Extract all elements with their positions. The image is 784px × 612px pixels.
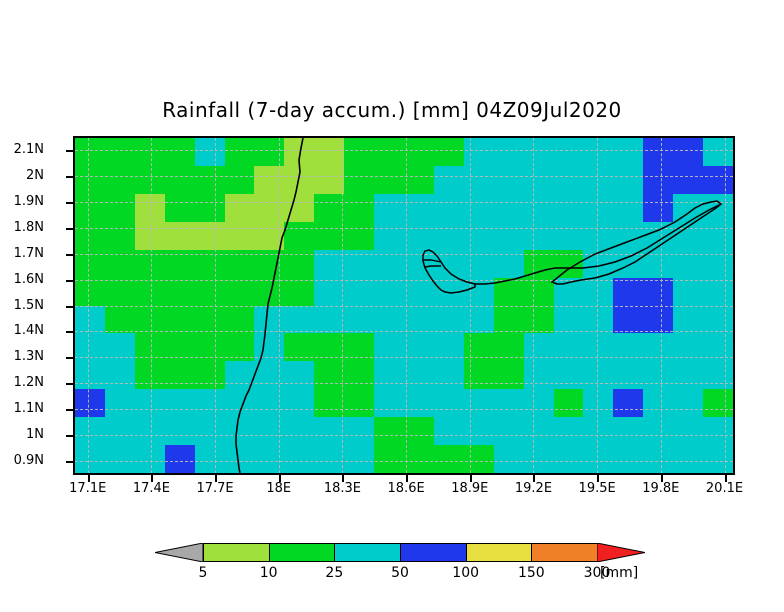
x-axis-tick-mark [342,475,344,482]
heatmap-cell [673,194,704,223]
heatmap-cell [494,417,525,446]
heatmap-cell [554,389,585,418]
y-axis-tick-label: 2.1N [0,142,44,157]
y-axis-tick-mark [66,280,73,282]
heatmap-cell [105,417,136,446]
heatmap-cell [105,389,136,418]
heatmap-cell [554,166,585,195]
heatmap-cell [583,194,614,223]
heatmap-cell [494,445,525,474]
heatmap-cell [195,278,226,307]
heatmap-cell [404,445,435,474]
rainfall-map-plot [73,136,735,475]
heatmap-cell [135,445,166,474]
heatmap-cell [344,222,375,251]
heatmap-cell [314,417,345,446]
heatmap-cell [703,194,734,223]
heatmap-cell [225,278,256,307]
y-axis-tick-label: 1.8N [0,220,44,235]
heatmap-cell [344,278,375,307]
x-axis-tick-label: 17.4E [116,481,186,496]
heatmap-cell [195,417,226,446]
heatmap-cell [583,389,614,418]
heatmap-cell [494,138,525,167]
x-axis-tick-label: 18E [244,481,314,496]
heatmap-cell [643,166,674,195]
heatmap-cell [195,166,226,195]
heatmap-cell [434,445,465,474]
y-axis-tick-mark [66,461,73,463]
x-axis-tick-mark [470,475,472,482]
heatmap-cell [284,361,315,390]
heatmap-cell [105,138,136,167]
y-axis-tick-label: 1.7N [0,246,44,261]
heatmap-cell [135,278,166,307]
gridline-horizontal [75,357,733,358]
y-axis-tick-mark [66,254,73,256]
colorbar-tick-label: 50 [370,565,430,581]
heatmap-cell [284,417,315,446]
heatmap-cell [254,361,285,390]
heatmap-cell [404,389,435,418]
x-axis-tick-mark [215,475,217,482]
heatmap-cell [75,417,106,446]
colorbar-tick-label: 5 [173,565,233,581]
y-axis-tick-mark [66,357,73,359]
heatmap-cell [673,417,704,446]
heatmap-cell [494,222,525,251]
heatmap-cell [374,138,405,167]
heatmap-cell [225,389,256,418]
heatmap-cell [434,194,465,223]
heatmap-cell [524,306,555,335]
heatmap-cell [75,166,106,195]
heatmap-cell [703,389,734,418]
heatmap-cell [165,166,196,195]
heatmap-cell [314,445,345,474]
heatmap-cell [434,306,465,335]
heatmap-cell [314,306,345,335]
heatmap-cell [254,166,285,195]
heatmap-cell [524,361,555,390]
heatmap-cell [344,138,375,167]
colorbar-tick-label: 100 [436,565,496,581]
heatmap-cell [554,445,585,474]
heatmap-cell [75,138,106,167]
heatmap-cell [135,389,166,418]
heatmap-cell [613,166,644,195]
heatmap-cell [554,361,585,390]
heatmap-cell [583,361,614,390]
heatmap-cell [703,445,734,474]
y-axis-tick-label: 1.3N [0,349,44,364]
heatmap-cell [613,194,644,223]
y-axis-tick-mark [66,150,73,152]
heatmap-cell [195,389,226,418]
heatmap-cell [404,306,435,335]
colorbar-swatch[interactable] [400,543,467,562]
y-axis-tick-label: 1.9N [0,194,44,209]
heatmap-cell [374,445,405,474]
heatmap-cell [135,138,166,167]
gridline-horizontal [75,383,733,384]
heatmap-cell [583,222,614,251]
heatmap-cell [583,278,614,307]
heatmap-cell [225,166,256,195]
heatmap-cell [583,306,614,335]
y-axis-tick-mark [66,383,73,385]
colorbar-units-label: [mm] [600,565,638,581]
heatmap-cell [105,445,136,474]
gridline-horizontal [75,254,733,255]
heatmap-cell [703,306,734,335]
gridline-horizontal [75,331,733,332]
colorbar-tick-label: 10 [239,565,299,581]
heatmap-cell [404,138,435,167]
heatmap-cell [135,194,166,223]
heatmap-cell [75,306,106,335]
heatmap-cell [613,389,644,418]
heatmap-cell [344,306,375,335]
heatmap-cell [524,166,555,195]
heatmap-cell [75,389,106,418]
heatmap-cell [613,306,644,335]
heatmap-cell [703,222,734,251]
heatmap-cell [494,194,525,223]
heatmap-cell [75,194,106,223]
gridline-horizontal [75,176,733,177]
heatmap-cell [554,138,585,167]
heatmap-cell [165,306,196,335]
colorbar-legend[interactable]: 5102550100150300 [155,543,645,565]
heatmap-cell [703,138,734,167]
heatmap-cell [673,361,704,390]
heatmap-cell [165,194,196,223]
colorbar-tick-label: 25 [304,565,364,581]
y-axis-tick-mark [66,435,73,437]
y-axis-tick-mark [66,306,73,308]
heatmap-cell [643,445,674,474]
heatmap-cell [673,166,704,195]
heatmap-cell [643,389,674,418]
heatmap-cell [314,166,345,195]
gridline-horizontal [75,150,733,151]
heatmap-cell [135,306,166,335]
heatmap-cell [195,361,226,390]
heatmap-cell [75,278,106,307]
heatmap-cell [434,166,465,195]
x-axis-tick-mark [151,475,153,482]
heatmap-cell [464,278,495,307]
x-axis-tick-mark [533,475,535,482]
colorbar-swatch[interactable] [531,543,598,562]
heatmap-cell [314,361,345,390]
x-axis-tick-label: 18.6E [371,481,441,496]
heatmap-cell [494,361,525,390]
x-axis-tick-mark [725,475,727,482]
heatmap-cell [673,306,704,335]
heatmap-cell [165,278,196,307]
gridline-horizontal [75,202,733,203]
heatmap-cell [673,222,704,251]
heatmap-cell [344,389,375,418]
heatmap-cell [643,138,674,167]
heatmap-cell [225,417,256,446]
chart-page: Rainfall (7-day accum.) [mm] 04Z09Jul202… [0,0,784,612]
heatmap-cell [554,194,585,223]
heatmap-cell [105,194,136,223]
heatmap-cell [643,417,674,446]
heatmap-cell [105,361,136,390]
heatmap-cell [643,306,674,335]
heatmap-cell [165,445,196,474]
heatmap-cell [404,194,435,223]
heatmap-cell [374,278,405,307]
x-axis-tick-mark [88,475,90,482]
heatmap-cell [254,389,285,418]
heatmap-cell [314,278,345,307]
x-axis-tick-label: 19.5E [562,481,632,496]
heatmap-cell [105,222,136,251]
y-axis-tick-label: 1.4N [0,323,44,338]
heatmap-cell [434,361,465,390]
y-axis-tick-label: 1.6N [0,272,44,287]
heatmap-cell [344,166,375,195]
y-axis-tick-mark [66,331,73,333]
heatmap-cell [374,361,405,390]
heatmap-cell [464,222,495,251]
heatmap-cell [314,389,345,418]
heatmap-cell [105,166,136,195]
heatmap-cell [643,278,674,307]
heatmap-cell [583,166,614,195]
heatmap-cell [135,222,166,251]
heatmap-cell [165,222,196,251]
x-axis-tick-label: 17.7E [180,481,250,496]
heatmap-cell [165,389,196,418]
heatmap-cell [524,194,555,223]
heatmap-cell [75,222,106,251]
heatmap-cell [195,194,226,223]
x-axis-tick-label: 17.1E [53,481,123,496]
heatmap-cell [374,166,405,195]
colorbar-swatch[interactable] [466,543,533,562]
heatmap-cell [284,278,315,307]
heatmap-cell [703,417,734,446]
heatmap-cell [254,417,285,446]
page-title: Rainfall (7-day accum.) [mm] 04Z09Jul202… [0,98,784,122]
colorbar-swatch[interactable] [334,543,401,562]
heatmap-cell [195,445,226,474]
heatmap-cell [404,166,435,195]
heatmap-cell [554,222,585,251]
heatmap-cell [135,417,166,446]
x-axis-tick-label: 20.1E [690,481,760,496]
heatmap-cell [284,306,315,335]
heatmap-cell [583,138,614,167]
heatmap-cell [524,278,555,307]
heatmap-cell [374,389,405,418]
heatmap-cell [344,417,375,446]
gridline-horizontal [75,435,733,436]
heatmap-cell [554,417,585,446]
heatmap-cell [254,138,285,167]
heatmap-cell [314,222,345,251]
heatmap-cell [284,222,315,251]
heatmap-cell [374,222,405,251]
x-axis-tick-mark [406,475,408,482]
heatmap-cell [464,194,495,223]
gridline-horizontal [75,306,733,307]
heatmap-cell [314,194,345,223]
heatmap-cell [404,278,435,307]
x-axis-tick-label: 18.9E [435,481,505,496]
heatmap-cell [554,278,585,307]
colorbar-high-arrow [597,543,645,562]
heatmap-cell [464,445,495,474]
y-axis-tick-mark [66,202,73,204]
heatmap-cell [464,166,495,195]
heatmap-cell [105,306,136,335]
heatmap-cell [344,194,375,223]
heatmap-cell [284,166,315,195]
heatmap-cell [404,417,435,446]
heatmap-cell [135,166,166,195]
plot-inner [75,138,733,473]
heatmap-cell [135,361,166,390]
heatmap-cell [494,306,525,335]
gridline-horizontal [75,228,733,229]
heatmap-cell [613,222,644,251]
heatmap-cell [494,166,525,195]
heatmap-cell [195,138,226,167]
y-axis-tick-label: 1.1N [0,401,44,416]
heatmap-cell [524,417,555,446]
heatmap-cell [673,445,704,474]
heatmap-cell [195,306,226,335]
heatmap-cell [254,194,285,223]
heatmap-cell [464,306,495,335]
x-axis-tick-label: 19.2E [498,481,568,496]
heatmap-cell [225,194,256,223]
heatmap-cell [105,278,136,307]
heatmap-cell [404,222,435,251]
heatmap-cell [165,417,196,446]
heatmap-cell [404,361,435,390]
y-axis-tick-mark [66,176,73,178]
x-axis-tick-mark [279,475,281,482]
heatmap-cell [254,306,285,335]
heatmap-cell [673,138,704,167]
heatmap-cell [613,138,644,167]
heatmap-cell [524,389,555,418]
heatmap-cell [284,138,315,167]
heatmap-cell [583,417,614,446]
heatmap-cell [613,417,644,446]
heatmap-cell [344,361,375,390]
heatmap-cell [374,194,405,223]
heatmap-cell [284,445,315,474]
x-axis-tick-mark [661,475,663,482]
heatmap-cell [643,194,674,223]
heatmap-cell [464,417,495,446]
heatmap-cell [225,361,256,390]
heatmap-cell [75,445,106,474]
heatmap-cell [524,138,555,167]
heatmap-cell [254,445,285,474]
y-axis-tick-label: 2N [0,168,44,183]
y-axis-tick-mark [66,228,73,230]
colorbar-low-arrow [155,543,203,562]
heatmap-cell [494,278,525,307]
heatmap-cell [673,278,704,307]
y-axis-tick-label: 0.9N [0,453,44,468]
heatmap-cell [464,389,495,418]
heatmap-cell [524,222,555,251]
heatmap-cell [344,445,375,474]
heatmap-cell [464,361,495,390]
y-axis-tick-mark [66,409,73,411]
heatmap-cell [165,138,196,167]
heatmap-cell [554,306,585,335]
heatmap-cell [703,166,734,195]
heatmap-cell [225,222,256,251]
heatmap-cell [434,389,465,418]
heatmap-cell [464,138,495,167]
heatmap-cell [524,445,555,474]
colorbar-swatch[interactable] [203,543,270,562]
heatmap-cell [643,361,674,390]
heatmap-cell [314,138,345,167]
x-axis-tick-mark [597,475,599,482]
heatmap-cell [583,445,614,474]
heatmap-cell [434,278,465,307]
y-axis-tick-label: 1.2N [0,375,44,390]
heatmap-cell [494,389,525,418]
colorbar-swatch[interactable] [269,543,336,562]
heatmap-cell [254,222,285,251]
heatmap-cell [374,417,405,446]
heatmap-cell [434,138,465,167]
heatmap-cell [703,361,734,390]
heatmap-cell [613,445,644,474]
heatmap-cell [225,138,256,167]
x-axis-tick-label: 18.3E [307,481,377,496]
heatmap-cell [225,445,256,474]
gridline-horizontal [75,409,733,410]
y-axis-tick-label: 1N [0,427,44,442]
heatmap-cell [643,222,674,251]
heatmap-cell [673,389,704,418]
heatmap-cell [75,361,106,390]
gridline-horizontal [75,461,733,462]
gridline-horizontal [75,280,733,281]
heatmap-cell [254,278,285,307]
heatmap-cell [284,389,315,418]
heatmap-cell [195,222,226,251]
colorbar-tick-label: 150 [501,565,561,581]
heatmap-cell [284,194,315,223]
heatmap-cell [703,278,734,307]
heatmap-cell [613,361,644,390]
heatmap-cell [165,361,196,390]
x-axis-tick-label: 19.8E [626,481,696,496]
heatmap-cell [613,278,644,307]
heatmap-cell [374,306,405,335]
y-axis-tick-label: 1.5N [0,298,44,313]
heatmap-cell [434,417,465,446]
heatmap-cell [434,222,465,251]
